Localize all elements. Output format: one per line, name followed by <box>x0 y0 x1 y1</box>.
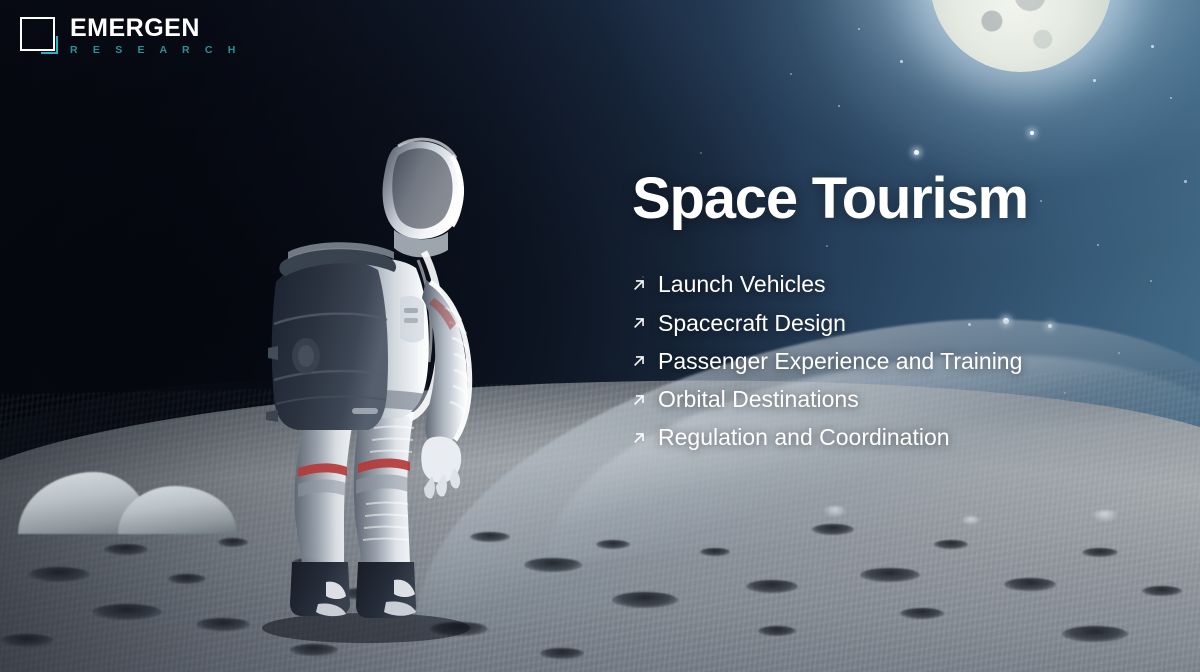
topic-list: Launch Vehicles Spacecraft Design Passen… <box>632 265 1172 456</box>
brand-logo[interactable]: EMERGEN R E S E A R C H <box>18 16 242 57</box>
square-outline-icon <box>18 16 59 57</box>
list-item: Regulation and Coordination <box>632 418 1172 456</box>
arrow-up-right-icon <box>632 315 647 330</box>
brand-name: EMERGEN <box>70 16 242 42</box>
page-title: Space Tourism <box>632 168 1172 229</box>
hero-content: Space Tourism Launch Vehicles Spacecraft… <box>632 168 1172 456</box>
arrow-up-right-icon <box>632 277 647 292</box>
list-item: Launch Vehicles <box>632 265 1172 303</box>
arrow-up-right-icon <box>632 353 647 368</box>
list-item-label: Regulation and Coordination <box>658 418 950 456</box>
astronaut-illustration <box>248 112 548 642</box>
list-item-label: Orbital Destinations <box>658 380 859 418</box>
list-item-label: Passenger Experience and Training <box>658 342 1022 380</box>
list-item: Passenger Experience and Training <box>632 342 1172 380</box>
brand-subtitle: R E S E A R C H <box>70 44 242 57</box>
brand-wordmark: EMERGEN R E S E A R C H <box>70 16 242 57</box>
list-item-label: Launch Vehicles <box>658 265 826 303</box>
arrow-up-right-icon <box>632 430 647 445</box>
list-item-label: Spacecraft Design <box>658 304 846 342</box>
space-tourism-banner: EMERGEN R E S E A R C H Space Tourism La… <box>0 0 1200 672</box>
list-item: Spacecraft Design <box>632 304 1172 342</box>
list-item: Orbital Destinations <box>632 380 1172 418</box>
arrow-up-right-icon <box>632 392 647 407</box>
